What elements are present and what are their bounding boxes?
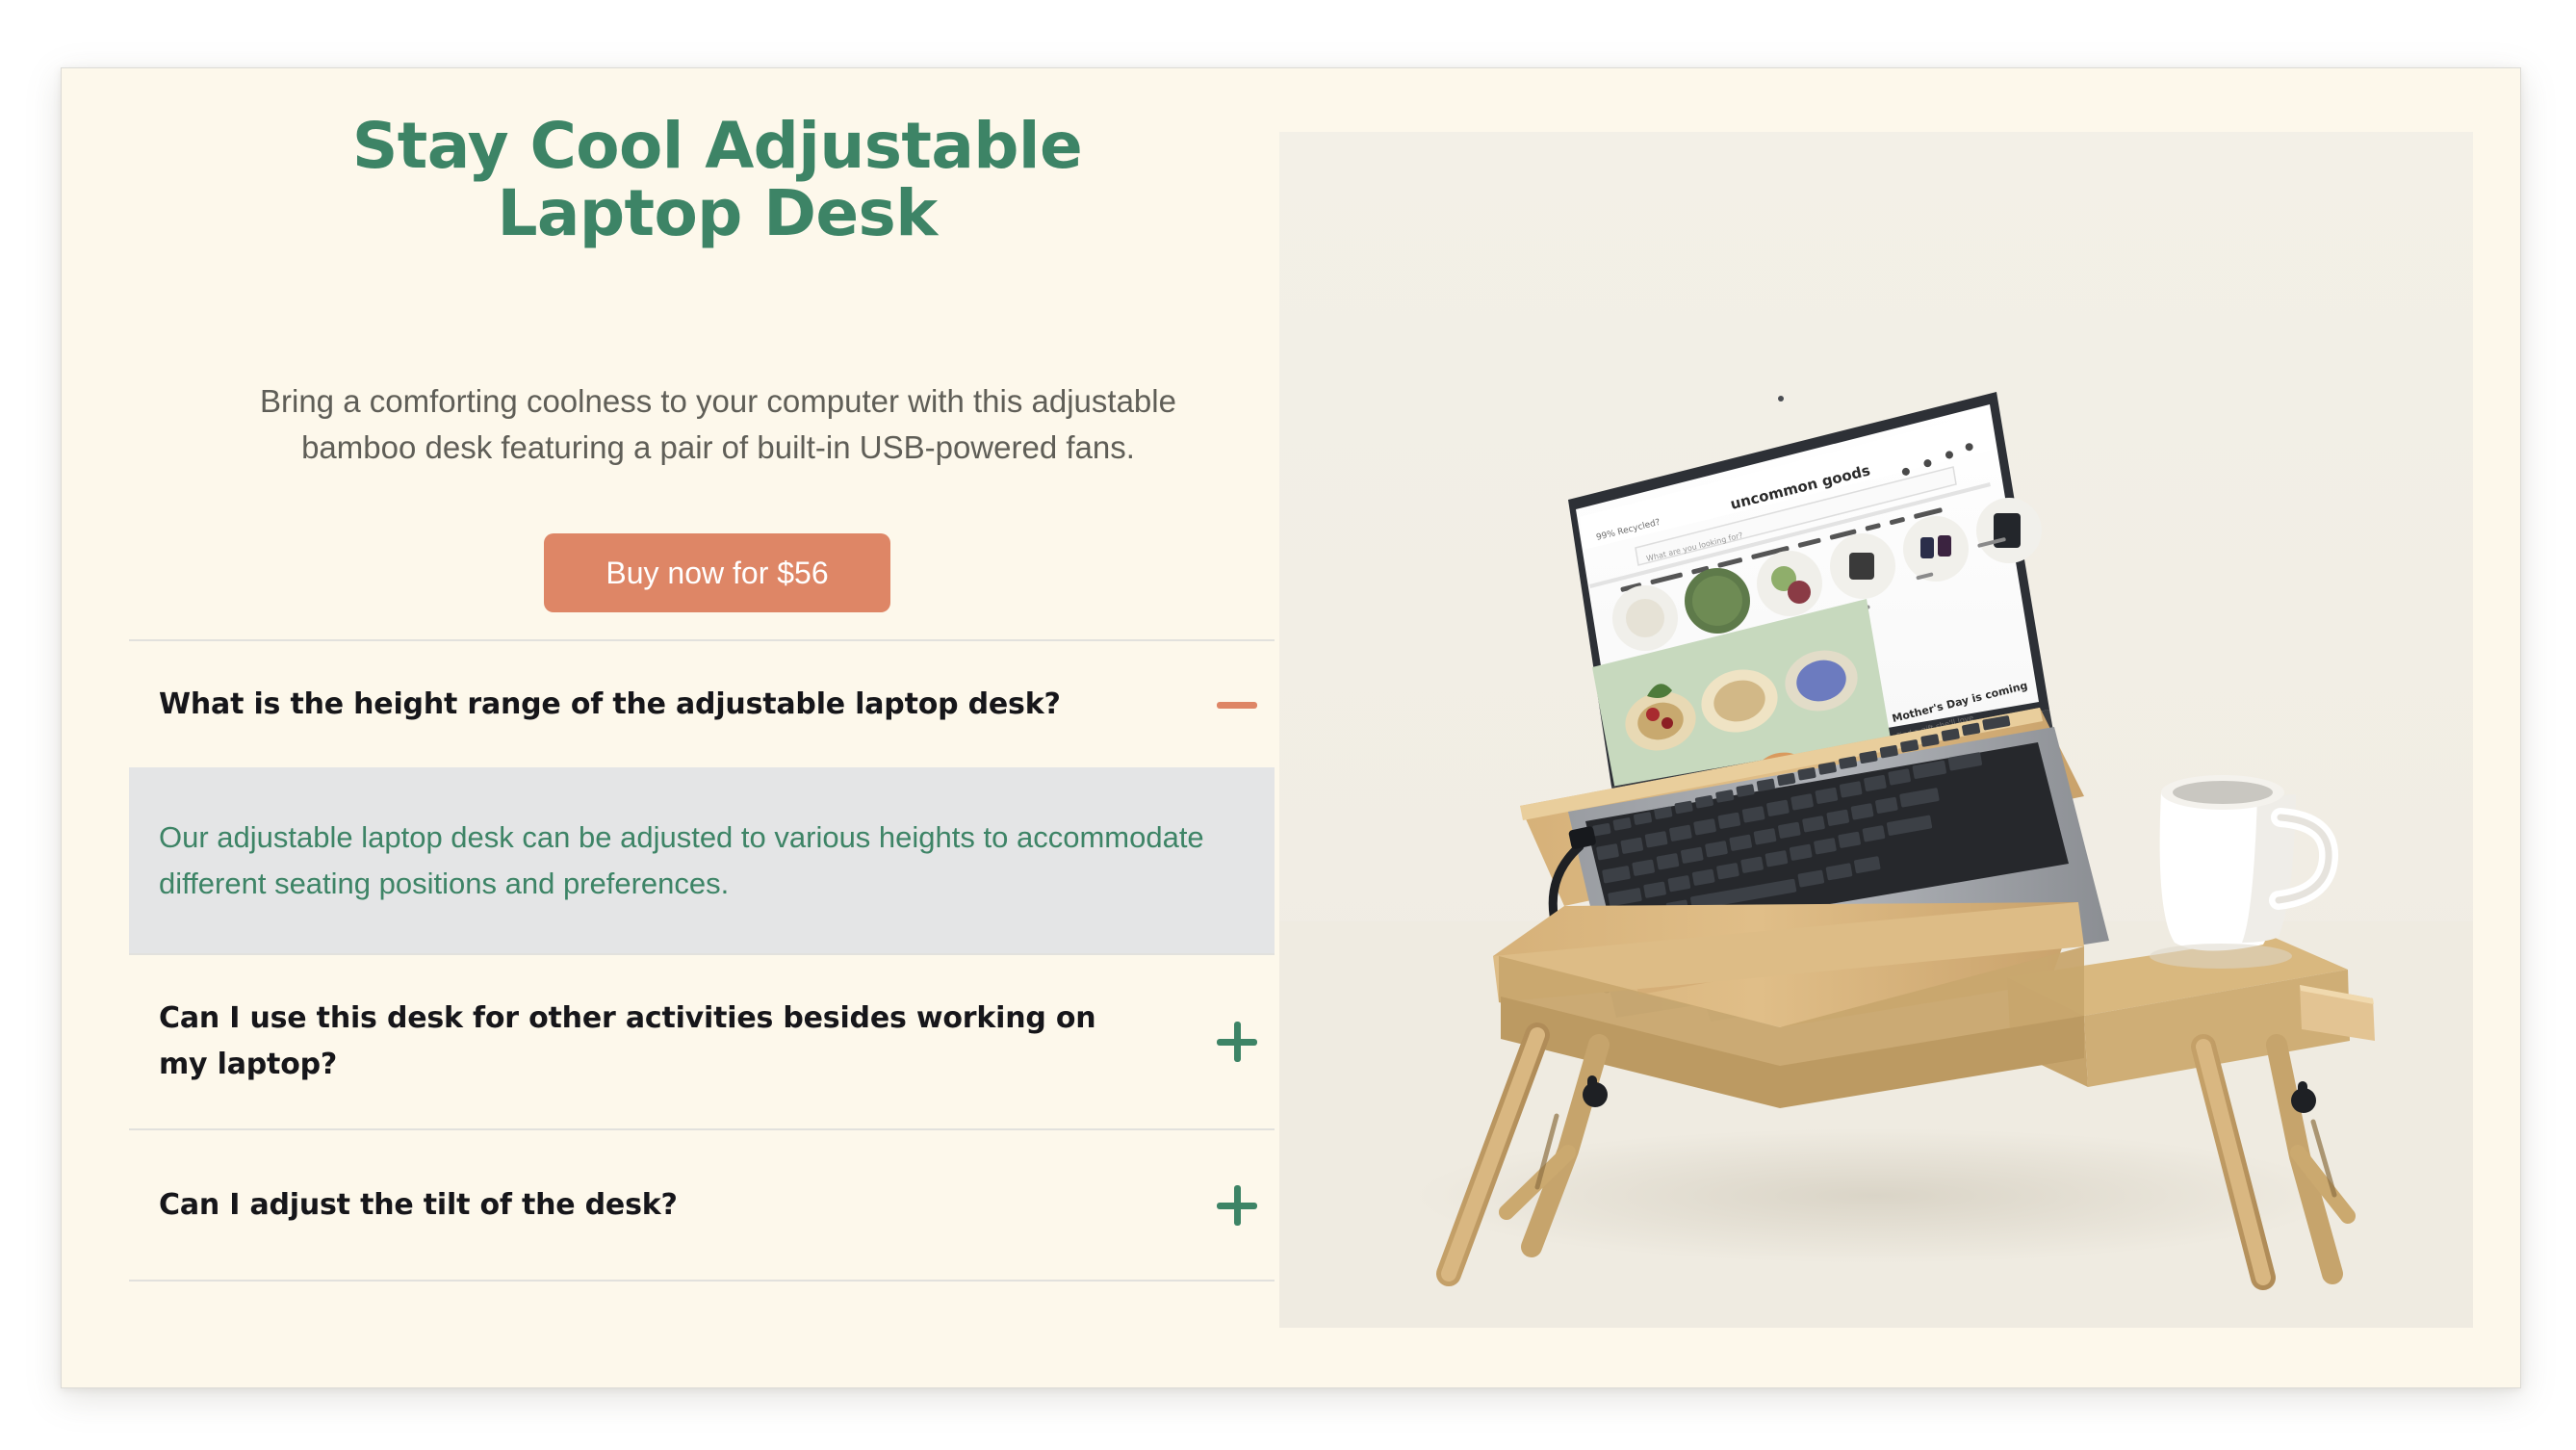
minus-icon[interactable] xyxy=(1217,685,1257,725)
faq-item-3-header[interactable]: Can I adjust the tilt of the desk? xyxy=(129,1130,1275,1280)
product-subtitle: Bring a comforting coolness to your comp… xyxy=(222,378,1214,471)
cta-container: Buy now for $56 xyxy=(116,533,1318,612)
faq-item-1-header[interactable]: What is the height range of the adjustab… xyxy=(129,641,1275,767)
faq-item-1-question: What is the height range of the adjustab… xyxy=(159,682,1061,728)
faq-item-2-header[interactable]: Can I use this desk for other activities… xyxy=(129,955,1275,1128)
page-title-line-1: Stay Cool Adjustable xyxy=(352,109,1082,183)
plus-icon[interactable] xyxy=(1217,1022,1257,1062)
product-photo: 99% Recycled? uncommon goods What are yo… xyxy=(1279,132,2473,1328)
buy-now-button[interactable]: Buy now for $56 xyxy=(544,533,890,612)
page-root: Stay Cool Adjustable Laptop Desk Bring a… xyxy=(0,0,2576,1450)
faq-item-1-answer-panel: Our adjustable laptop desk can be adjust… xyxy=(129,767,1275,953)
faq-accordion: What is the height range of the adjustab… xyxy=(129,639,1275,1282)
page-title-line-2: Laptop Desk xyxy=(497,176,937,250)
plus-icon[interactable] xyxy=(1217,1185,1257,1226)
faq-item-3-question: Can I adjust the tilt of the desk? xyxy=(159,1182,678,1229)
product-faq-card: Stay Cool Adjustable Laptop Desk Bring a… xyxy=(61,67,2521,1388)
left-column: Stay Cool Adjustable Laptop Desk Bring a… xyxy=(116,68,1318,1389)
faq-item-1-answer: Our adjustable laptop desk can be adjust… xyxy=(159,815,1208,907)
product-photo-illustration: 99% Recycled? uncommon goods What are yo… xyxy=(1279,132,2473,1328)
faq-divider-bottom xyxy=(129,1280,1275,1282)
faq-item-2-question: Can I use this desk for other activities… xyxy=(159,996,1121,1088)
page-title: Stay Cool Adjustable Laptop Desk xyxy=(116,113,1318,247)
